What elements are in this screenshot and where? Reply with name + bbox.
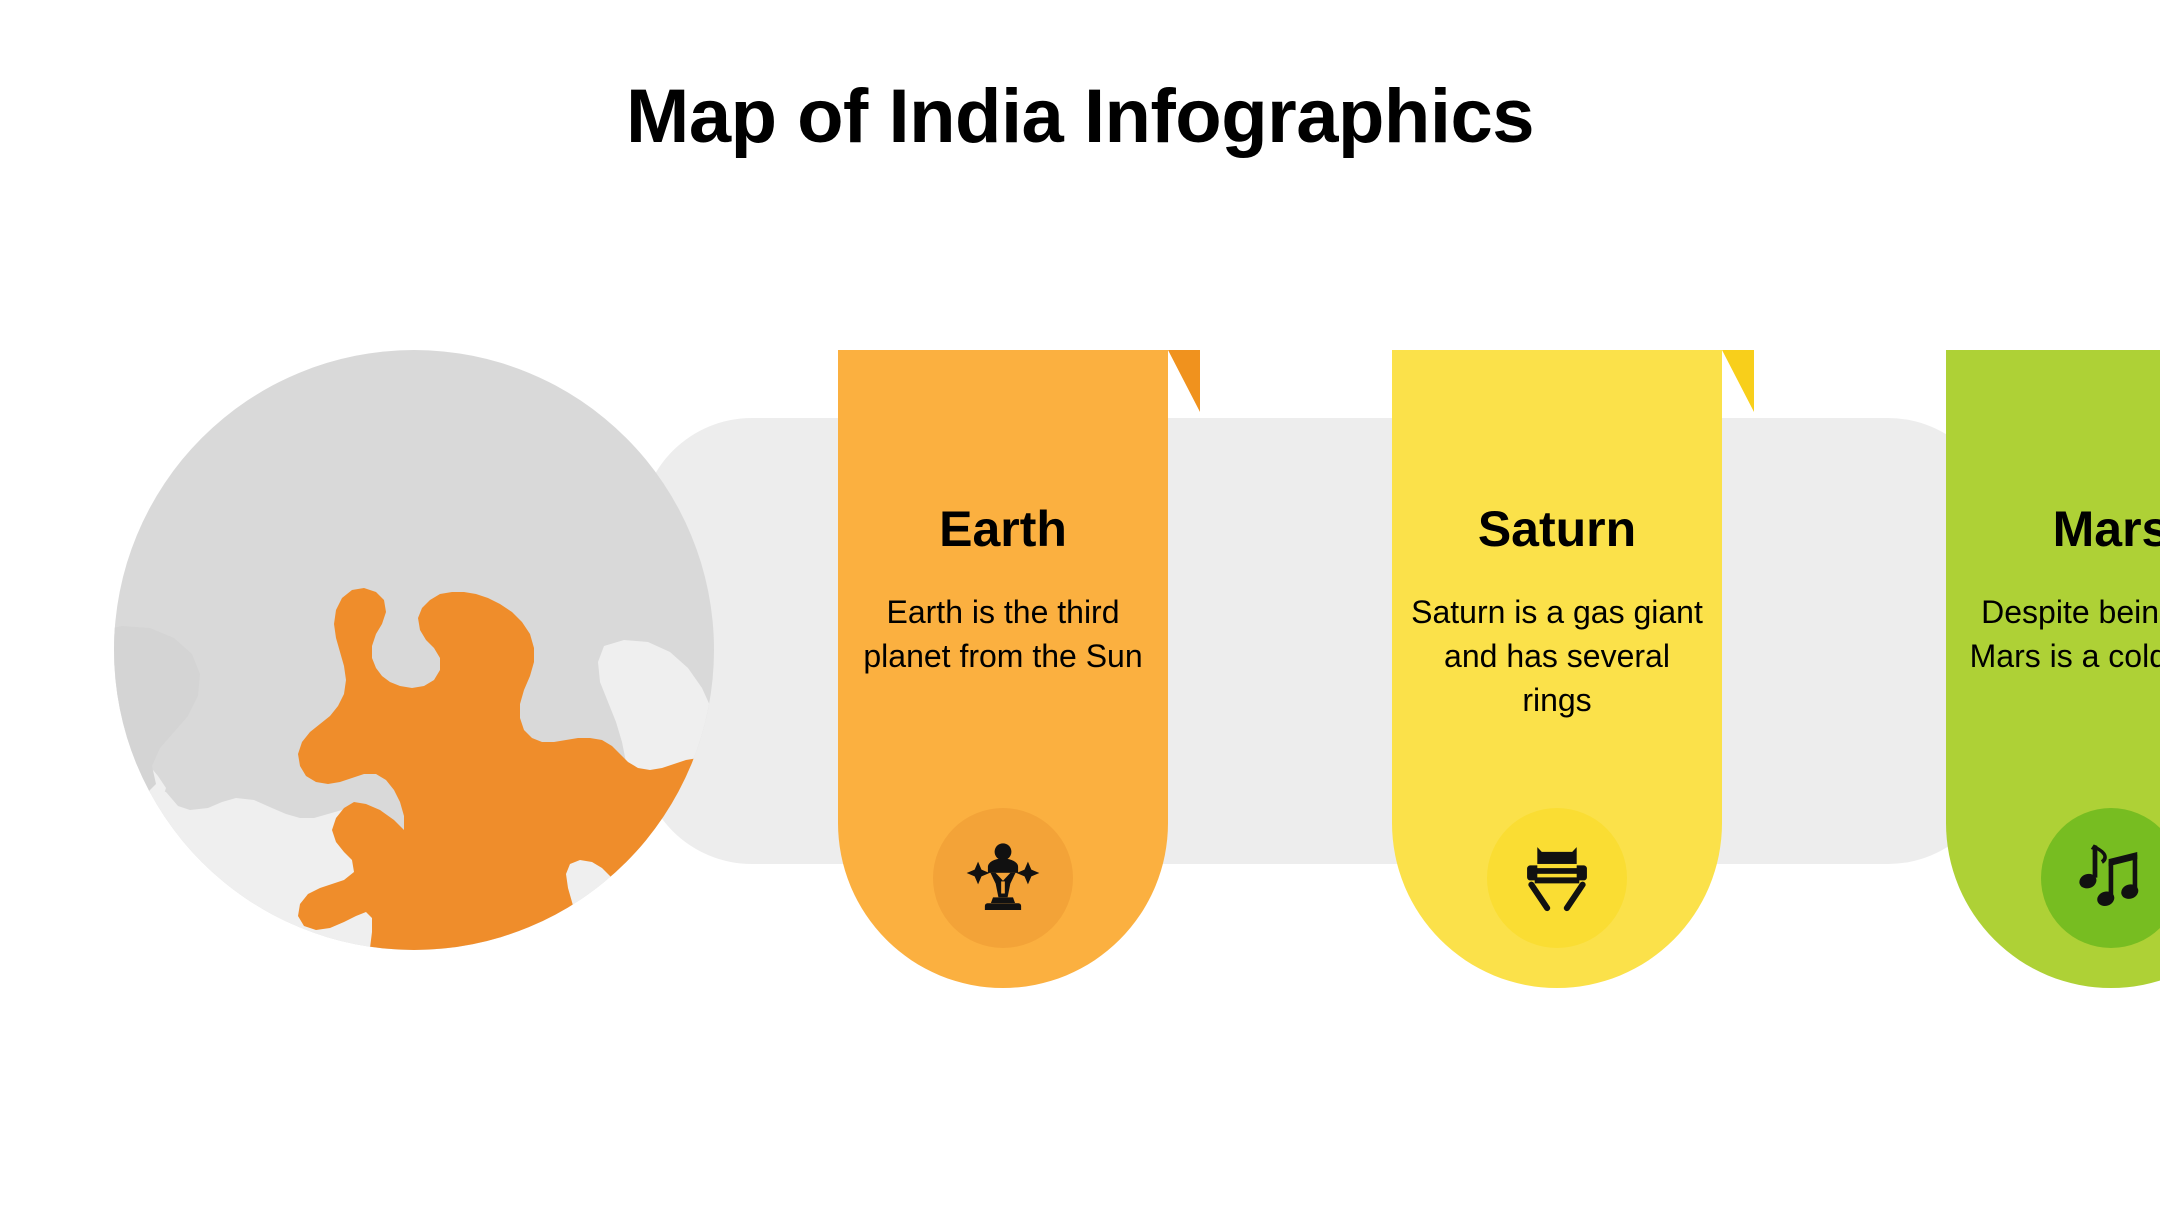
india-northeast-shape [598,912,678,960]
card-title-saturn: Saturn [1392,500,1722,558]
ribbon-fold-saturn [1722,350,1754,412]
card-description-earth: Earth is the third planet from the Sun [854,590,1152,678]
card-title-earth: Earth [838,500,1168,558]
award-trophy-icon [961,836,1045,920]
ribbon-fold-earth [1168,350,1200,412]
slide-canvas: Map of India Infographics [0,0,2160,1215]
card-description-saturn: Saturn is a gas giant and has several ri… [1408,590,1706,722]
card-title-mars: Mars [1946,500,2160,558]
info-card-saturn[interactable]: Saturn Saturn is a gas giant and has sev… [1392,350,1722,988]
card-description-mars: Despite being red, Mars is a cold place [1962,590,2160,678]
music-notes-icon [2069,836,2153,920]
icon-badge-saturn [1487,808,1627,948]
director-chair-icon [1515,836,1599,920]
info-card-earth[interactable]: Earth Earth is the third planet from the… [838,350,1168,988]
icon-badge-mars [2041,808,2160,948]
page-title: Map of India Infographics [0,74,2160,160]
info-card-mars[interactable]: Mars Despite being red, Mars is a cold p… [1946,350,2160,988]
india-globe-illustration [104,340,724,960]
icon-badge-earth [933,808,1073,948]
